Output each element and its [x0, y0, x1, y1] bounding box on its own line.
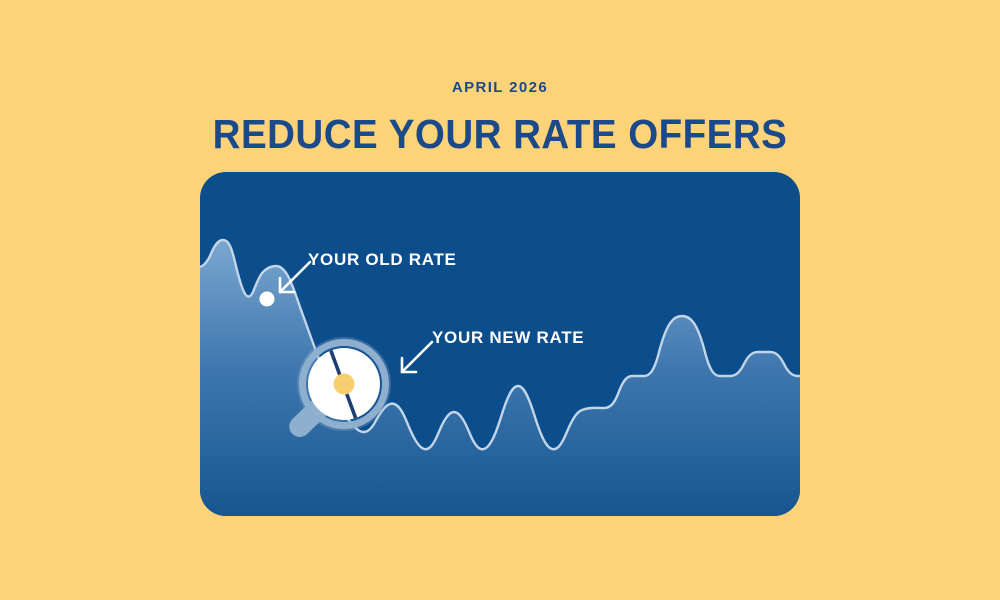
header: APRIL 2026 REDUCE YOUR RATE OFFERS: [0, 78, 1000, 156]
poster-canvas: APRIL 2026 REDUCE YOUR RATE OFFERS: [0, 0, 1000, 600]
eyebrow-date: APRIL 2026: [0, 78, 1000, 98]
new-rate-dot: [334, 374, 355, 395]
page-title: REDUCE YOUR RATE OFFERS: [30, 112, 970, 156]
old-rate-dot: [260, 292, 275, 307]
annotation-old-rate: YOUR OLD RATE: [308, 250, 457, 270]
annotation-new-rate: YOUR NEW RATE: [432, 328, 584, 348]
